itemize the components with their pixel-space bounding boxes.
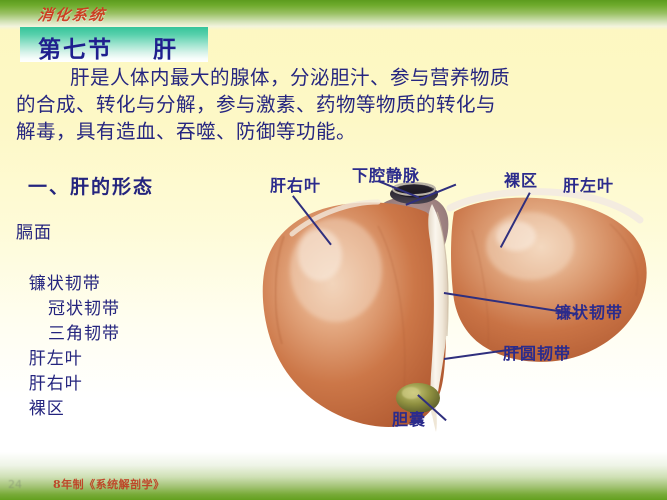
- label-left-lobe: 肝左叶: [563, 172, 614, 196]
- intro-paragraph: 肝是人体内最大的腺体，分泌胆汁、参与营养物质 的合成、转化与分解，参与激素、药物…: [16, 64, 656, 145]
- paragraph-line-2: 的合成、转化与分解，参与激素、药物等物质的转化与: [16, 93, 496, 116]
- label-round-ligament: 肝圆韧带: [503, 340, 571, 364]
- right-lobe-specular: [298, 229, 342, 281]
- liver-figure: 肝右叶 下腔静脉 裸区 肝左叶 镰状韧带 肝圆韧带 胆囊: [258, 160, 667, 460]
- term-item: 镰状韧带: [16, 272, 120, 297]
- paragraph-line-3: 解毒，具有造血、吞噬、防御等功能。: [16, 120, 356, 143]
- chapter-watermark: 消化系统: [37, 4, 108, 25]
- surface-label: 膈面: [16, 218, 52, 243]
- term-item: 裸区: [16, 397, 120, 422]
- section-heading: 一、肝的形态: [28, 172, 154, 199]
- slide-canvas: 消化系统 第七节 肝 肝是人体内最大的腺体，分泌胆汁、参与营养物质 的合成、转化…: [0, 0, 667, 500]
- label-falciform-ligament: 镰状韧带: [555, 299, 623, 323]
- label-inferior-vena-cava: 下腔静脉: [352, 162, 420, 186]
- term-item: 肝右叶: [16, 372, 120, 397]
- term-item: 三角韧带: [16, 322, 120, 347]
- label-gallbladder: 胆囊: [392, 406, 426, 430]
- label-right-lobe: 肝右叶: [270, 172, 321, 196]
- term-item: 冠状韧带: [16, 297, 120, 322]
- paragraph-line-1: 肝是人体内最大的腺体，分泌胆汁、参与营养物质: [70, 66, 510, 89]
- term-list: 镰状韧带 冠状韧带 三角韧带 肝左叶 肝右叶 裸区: [16, 272, 120, 422]
- page-number: 24: [8, 478, 22, 491]
- gallbladder-highlight: [402, 387, 420, 399]
- page-title: 第七节 肝: [38, 30, 178, 64]
- term-item: 肝左叶: [16, 347, 120, 372]
- footer-title: 8年制《系统解剖学》: [53, 476, 165, 492]
- label-bare-area: 裸区: [504, 167, 538, 191]
